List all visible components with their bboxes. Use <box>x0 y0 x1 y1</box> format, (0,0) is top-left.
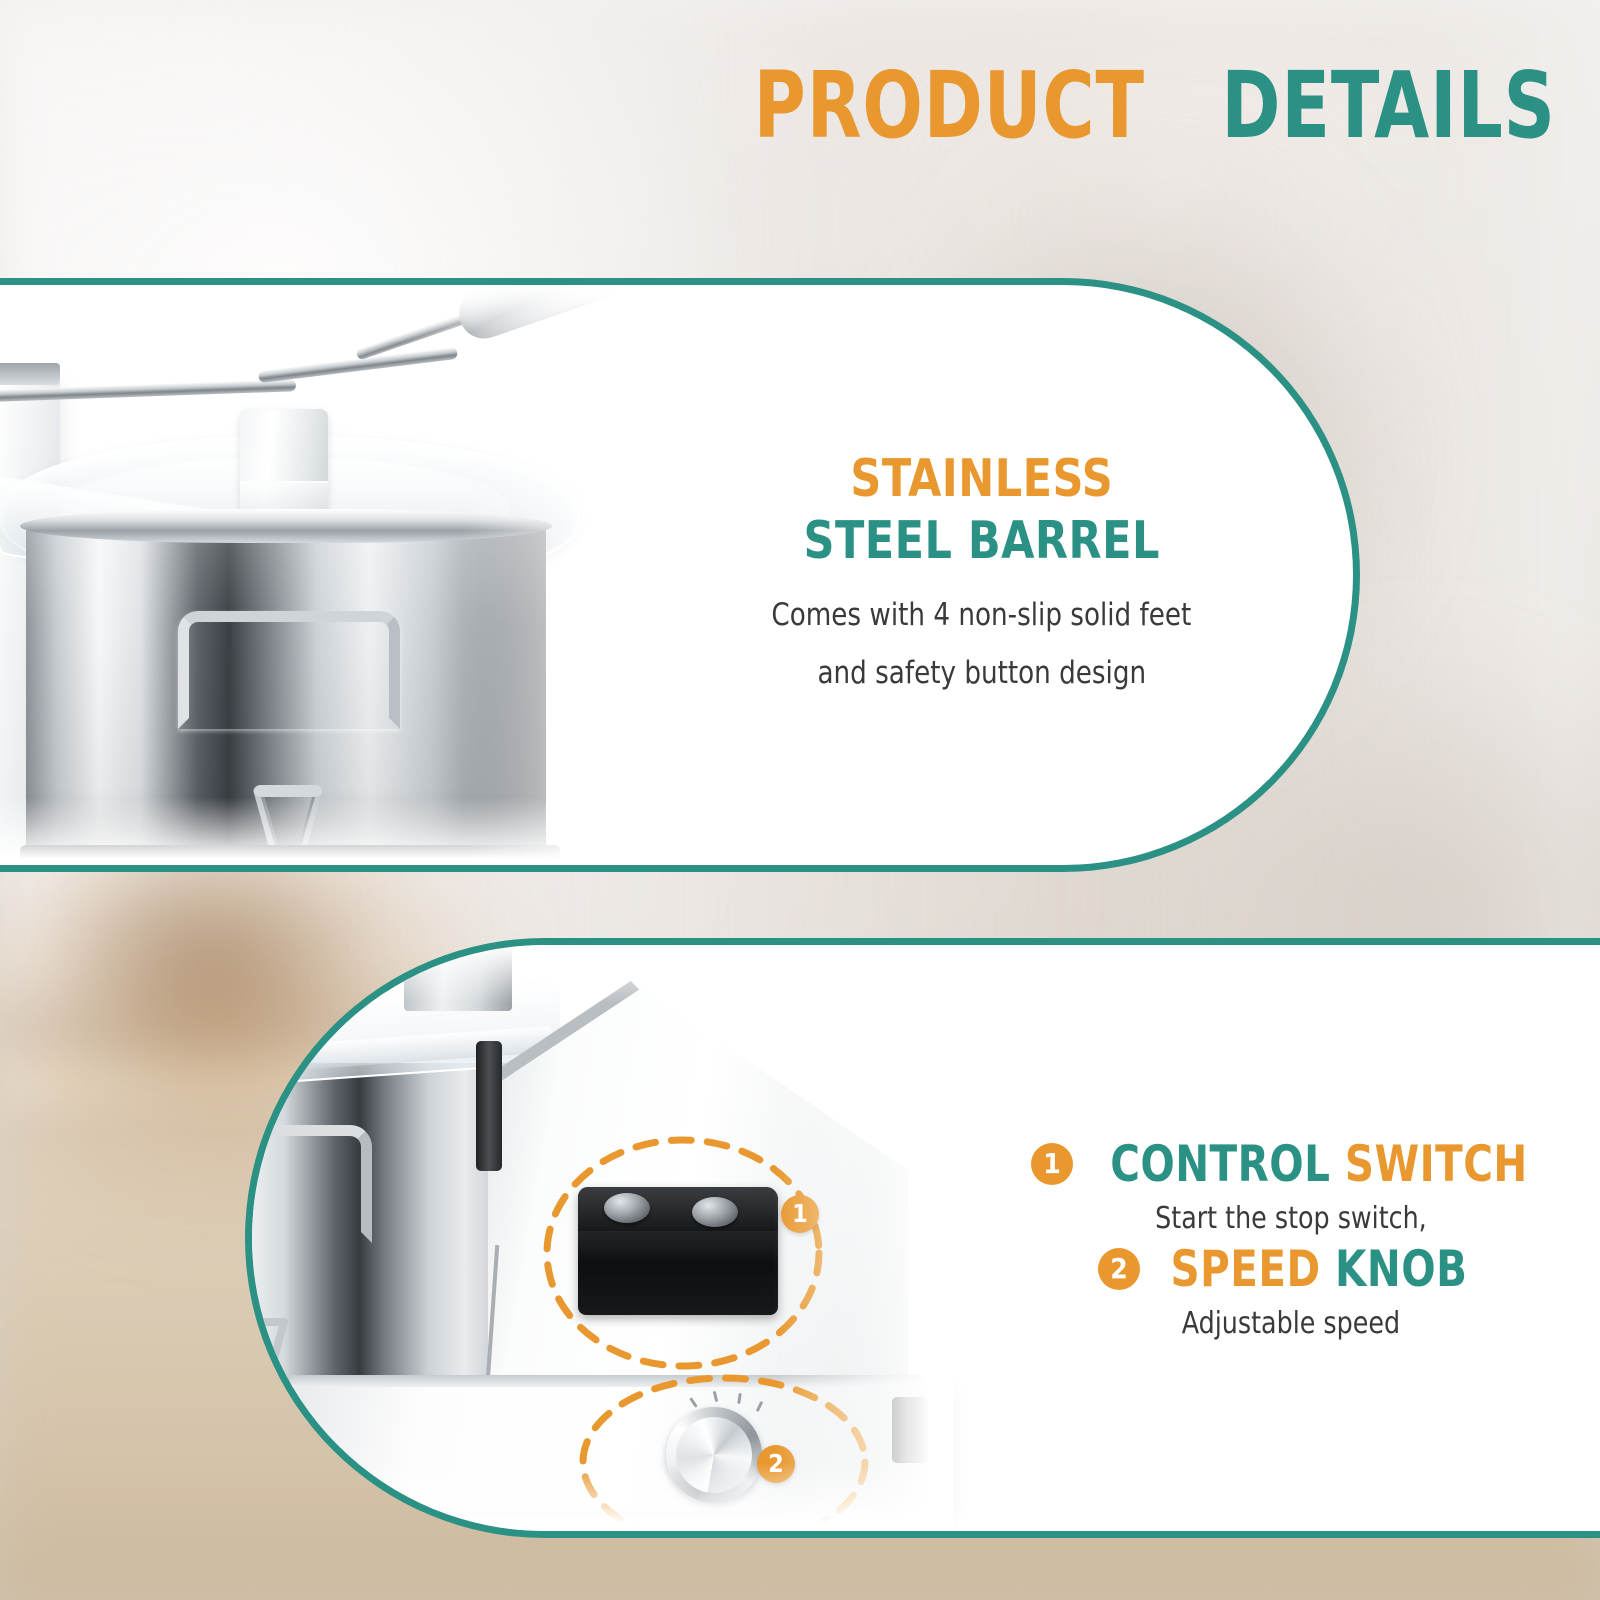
feature-text-controls: 1 CONTROL SWITCH Start the stop switch, … <box>952 945 1600 1531</box>
feature-control-switch: 1 CONTROL SWITCH Start the stop switch, <box>1031 1135 1551 1236</box>
product-photo-barrel <box>0 285 640 865</box>
body-text-line-2: and safety button design <box>817 646 1146 700</box>
feature-subtitle-speed-knob: Adjustable speed <box>1110 1306 1473 1341</box>
product-photo-barrel-scene <box>0 285 640 865</box>
stainless-bowl-handle-side <box>245 1125 372 1243</box>
feature-speed-knob: 2 SPEED KNOB Adjustable speed <box>1098 1240 1484 1341</box>
page-title: PRODUCT DETAILS <box>690 62 1556 150</box>
headline-stainless: STAINLESS <box>850 449 1113 510</box>
machine-body-top-cap <box>0 363 60 385</box>
feature-title-word-switch: SWITCH <box>1345 1135 1528 1193</box>
feature-title-word-speed: SPEED <box>1171 1240 1321 1298</box>
product-photo-controls-scene: 1 2 <box>252 945 952 1531</box>
feature-speed-knob-heading: 2 SPEED KNOB <box>1098 1240 1484 1298</box>
feature-title-speed-knob: SPEED KNOB <box>1171 1240 1468 1298</box>
photo-fade-right-controls <box>774 945 954 1531</box>
body-text-line-1: Comes with 4 non-slip solid feet <box>772 588 1192 642</box>
control-switch-start-button[interactable] <box>604 1193 650 1223</box>
feature-text-stainless-steel-barrel: STAINLESS STEEL BARREL Comes with 4 non-… <box>640 285 1353 865</box>
photo-fade-bottom-controls <box>252 1463 952 1533</box>
feature-panel-stainless-steel-barrel: STAINLESS STEEL BARREL Comes with 4 non-… <box>0 278 1360 872</box>
photo-fade-top <box>0 283 640 343</box>
stainless-bowl-handle <box>178 611 400 729</box>
headline-steel-barrel: STEEL BARREL <box>803 511 1159 572</box>
photo-fade-right <box>462 285 642 865</box>
product-photo-controls: 1 2 <box>252 945 952 1531</box>
feature-panel-controls: 1 2 1 CONTROL SWITCH Start the stop swit… <box>245 938 1600 1538</box>
photo-fade-bottom <box>0 797 640 867</box>
feature-badge-2: 2 <box>1098 1248 1140 1290</box>
feature-title-control-switch: CONTROL SWITCH <box>1110 1135 1528 1193</box>
feature-control-switch-heading: 1 CONTROL SWITCH <box>1031 1135 1551 1193</box>
feature-subtitle-control-switch: Start the stop switch, <box>1047 1201 1536 1236</box>
feature-title-word-control: CONTROL <box>1110 1135 1330 1193</box>
feature-title-word-knob: KNOB <box>1335 1240 1467 1298</box>
photo-fade-top-controls <box>252 943 952 1003</box>
control-switch-stop-button[interactable] <box>692 1197 738 1227</box>
lid-hinge-bracket <box>476 1041 502 1171</box>
feature-badge-1: 1 <box>1031 1143 1073 1185</box>
page-title-part-details: DETAILS <box>1222 62 1556 150</box>
page-title-part-product: PRODUCT <box>754 62 1145 150</box>
